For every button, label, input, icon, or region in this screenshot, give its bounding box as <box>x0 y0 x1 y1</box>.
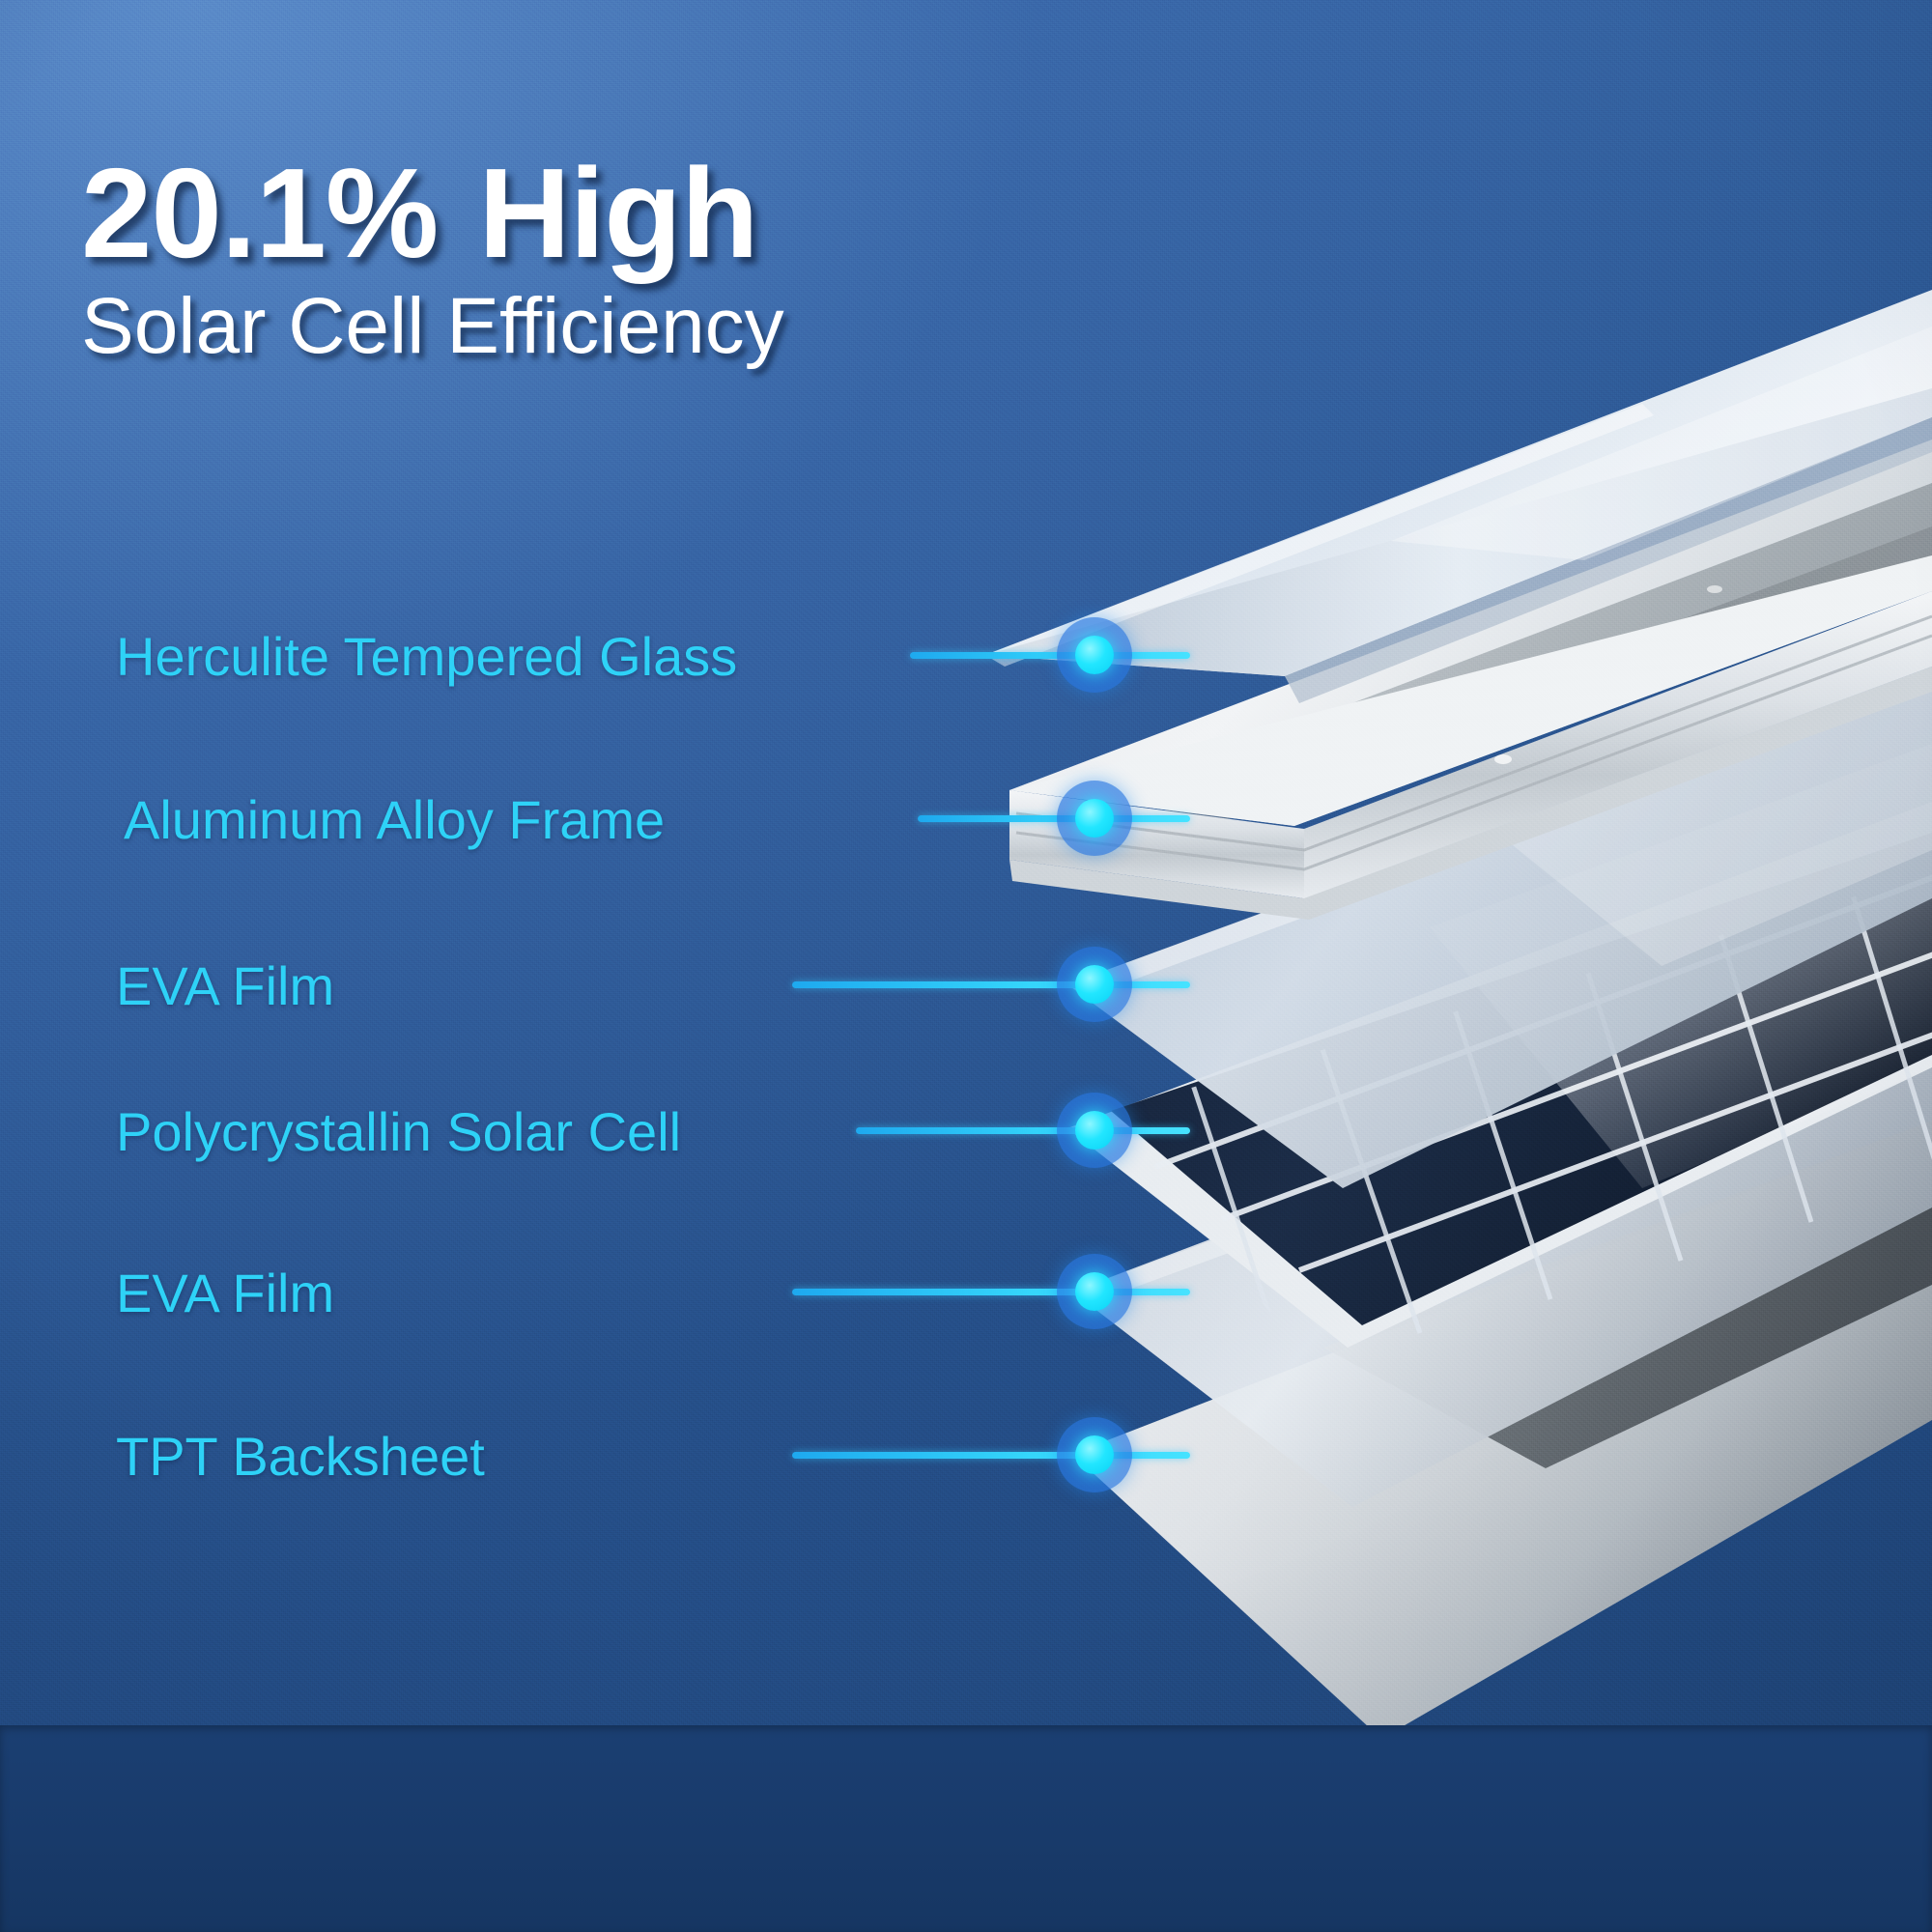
layer-marker-cell[interactable] <box>1057 1093 1132 1168</box>
callout-label: TPT Backsheet <box>116 1425 485 1488</box>
page-title: 20.1%High <box>81 147 784 279</box>
marker-core <box>1075 799 1114 838</box>
marker-core <box>1075 1272 1114 1311</box>
callout-label: Herculite Tempered Glass <box>116 625 737 688</box>
callout-label: EVA Film <box>116 954 334 1017</box>
layer-marker-eva-bot[interactable] <box>1057 1254 1132 1329</box>
efficiency-value: 20.1% <box>81 142 438 284</box>
callout-label: Aluminum Alloy Frame <box>124 788 665 851</box>
headline-block: 20.1%High Solar Cell Efficiency <box>81 147 784 369</box>
callout-label: Polycrystallin Solar Cell <box>116 1100 681 1163</box>
callout-label: EVA Film <box>116 1262 334 1324</box>
marker-core <box>1075 1435 1114 1474</box>
footer-band <box>0 1725 1932 1932</box>
layer-marker-frame[interactable] <box>1057 781 1132 856</box>
layer-marker-eva-top[interactable] <box>1057 947 1132 1022</box>
headline-word-high: High <box>478 142 757 284</box>
poster-root: 20.1%High Solar Cell Efficiency Herculit… <box>0 0 1932 1932</box>
leader-line <box>910 652 1190 659</box>
layer-marker-glass[interactable] <box>1057 617 1132 693</box>
leader-line <box>856 1127 1190 1134</box>
marker-core <box>1075 965 1114 1004</box>
page-subtitle: Solar Cell Efficiency <box>81 285 784 369</box>
leader-line <box>918 815 1190 822</box>
layer-marker-tpt[interactable] <box>1057 1417 1132 1492</box>
marker-core <box>1075 1111 1114 1150</box>
marker-core <box>1075 636 1114 674</box>
